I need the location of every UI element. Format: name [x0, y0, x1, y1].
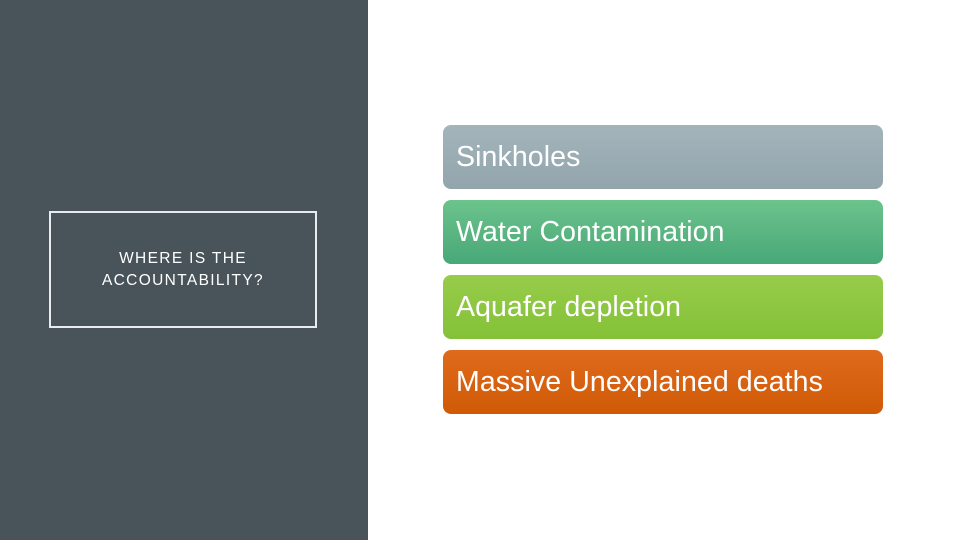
- bar-label: Sinkholes: [456, 143, 580, 172]
- list-item[interactable]: Water Contamination: [443, 200, 883, 264]
- bar-label: Aquafer depletion: [456, 293, 681, 322]
- list-item[interactable]: Aquafer depletion: [443, 275, 883, 339]
- list-item[interactable]: Sinkholes: [443, 125, 883, 189]
- left-panel: Where is the Accountability?: [0, 0, 368, 540]
- bar-label: Water Contamination: [456, 218, 725, 247]
- bar-label: Massive Unexplained deaths: [456, 368, 823, 397]
- title-box: Where is the Accountability?: [49, 211, 317, 328]
- slide-canvas: Where is the Accountability? Sinkholes W…: [0, 0, 960, 540]
- list-item[interactable]: Massive Unexplained deaths: [443, 350, 883, 414]
- page-title: Where is the Accountability?: [68, 248, 298, 292]
- bar-list: Sinkholes Water Contamination Aquafer de…: [443, 125, 883, 414]
